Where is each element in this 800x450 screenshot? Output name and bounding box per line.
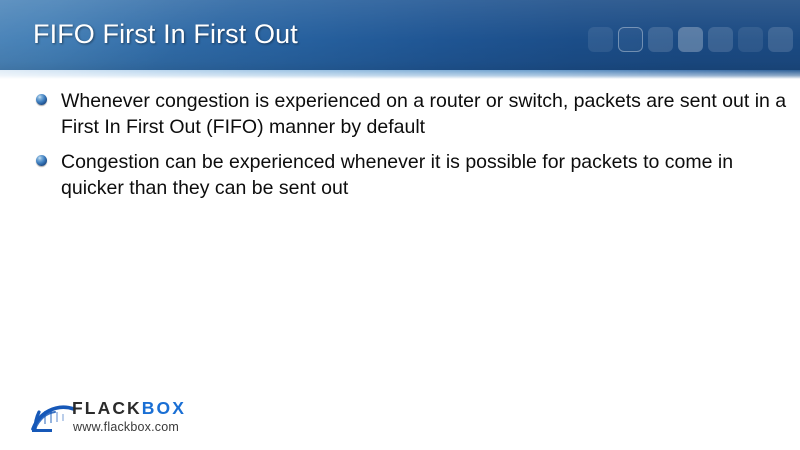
bullet-text: Congestion can be experienced whenever i… <box>61 149 791 201</box>
list-item: Whenever congestion is experienced on a … <box>0 88 791 140</box>
bullet-text: Whenever congestion is experienced on a … <box>61 88 791 140</box>
slide: FIFO First In First Out Whenever congest… <box>0 0 800 450</box>
deco-square-6 <box>738 27 763 52</box>
slide-title: FIFO First In First Out <box>33 19 298 50</box>
deco-square-2 <box>618 27 643 52</box>
deco-square-5 <box>708 27 733 52</box>
header-underline-fade <box>0 70 800 79</box>
bullet-list: Whenever congestion is experienced on a … <box>0 88 800 201</box>
slide-header: FIFO First In First Out <box>0 0 800 70</box>
wordmark-primary: FLACK <box>72 398 142 418</box>
slide-body: Whenever congestion is experienced on a … <box>0 88 800 210</box>
deco-square-4 <box>678 27 703 52</box>
deco-square-7 <box>768 27 793 52</box>
logo-url-text: www.flackbox.com <box>73 420 179 434</box>
list-item: Congestion can be experienced whenever i… <box>0 149 791 201</box>
flackbox-logo: FLACKBOX www.flackbox.com <box>30 396 210 440</box>
sphere-bullet-icon <box>36 94 47 105</box>
flackbox-wordmark: FLACKBOX <box>72 398 186 419</box>
deco-square-1 <box>588 27 613 52</box>
deco-square-3 <box>648 27 673 52</box>
header-decoration-squares <box>588 27 793 52</box>
wordmark-accent: BOX <box>142 398 186 418</box>
sphere-bullet-icon <box>36 155 47 166</box>
